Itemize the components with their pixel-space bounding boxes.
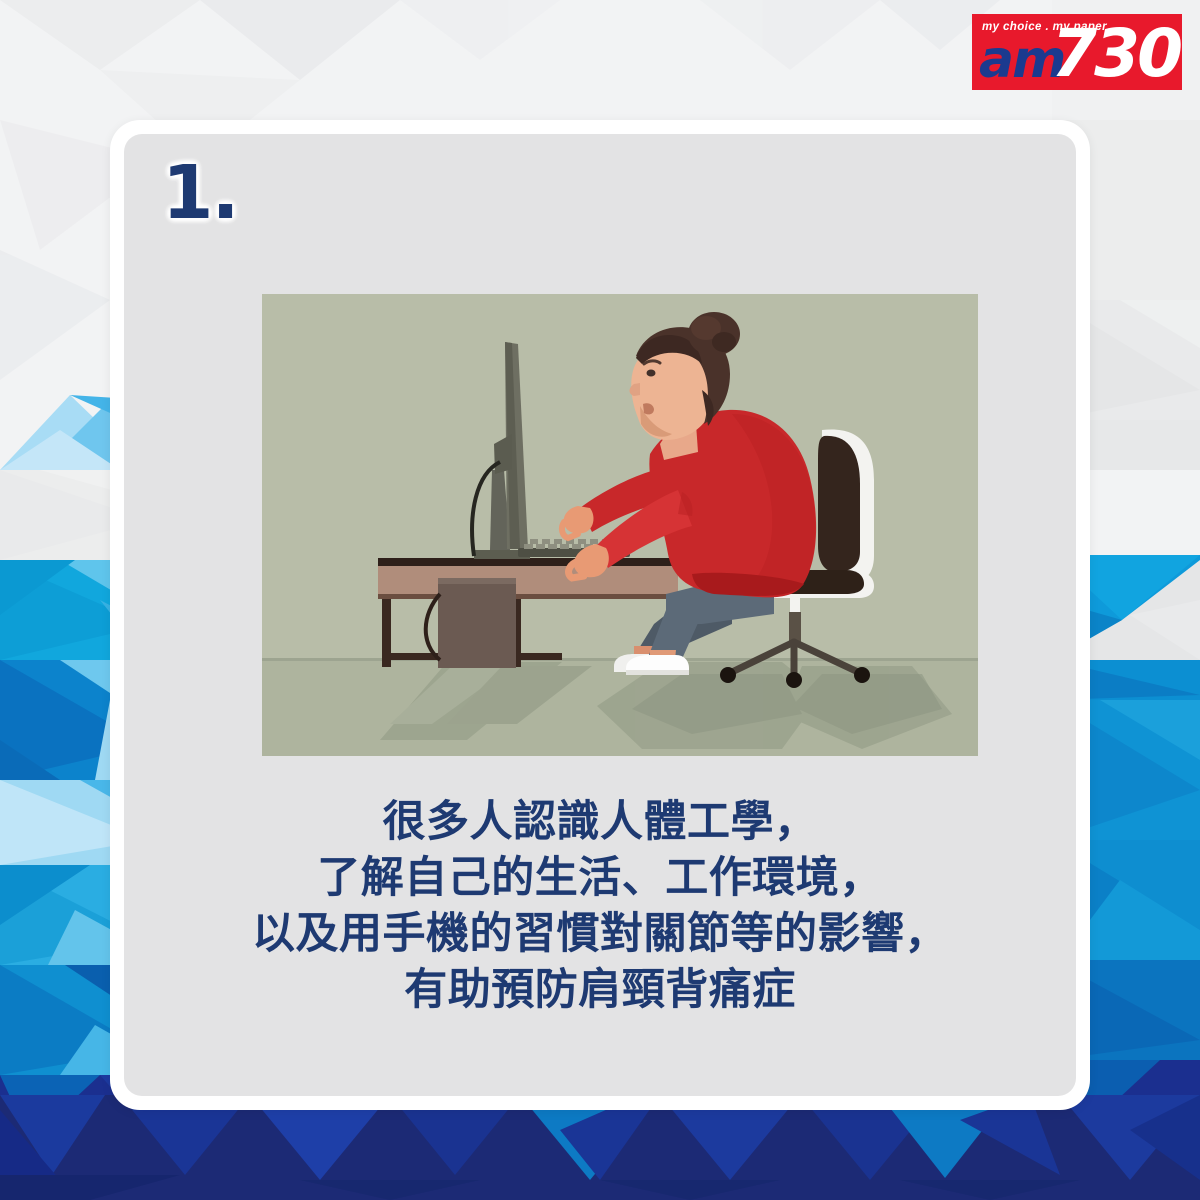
caption-line-3: 以及用手機的習慣對關節等的影響，	[124, 906, 1076, 962]
caption-line-4: 有助預防肩頸背痛症	[124, 962, 1076, 1018]
caption-line-2: 了解自己的生活、工作環境，	[124, 850, 1076, 906]
step-number: 1.	[162, 156, 238, 230]
ergonomics-illustration	[262, 294, 978, 756]
logo-730-text: 730	[1051, 20, 1180, 88]
am730-logo[interactable]: my choice . my paper am 730	[972, 14, 1182, 90]
card-inner-panel: 1.	[124, 134, 1076, 1096]
content-card: 1.	[110, 120, 1090, 1110]
caption-block: 很多人認識人體工學， 了解自己的生活、工作環境， 以及用手機的習慣對關節等的影響…	[124, 794, 1076, 1018]
caption-line-1: 很多人認識人體工學，	[124, 794, 1076, 850]
